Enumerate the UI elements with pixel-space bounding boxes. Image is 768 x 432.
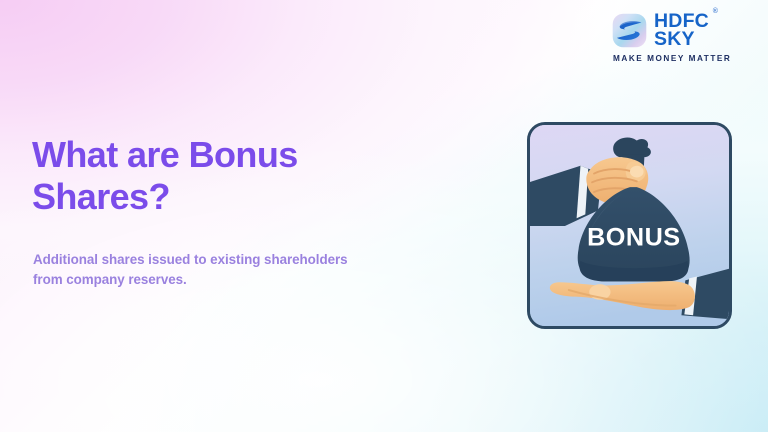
- logo-wordmark: HDFC SKY ®: [654, 12, 709, 48]
- hdfc-sky-swoosh-logo-icon: [612, 13, 647, 48]
- logo-name-line2: SKY: [654, 30, 709, 48]
- registered-trademark-icon: ®: [713, 9, 718, 16]
- brand-tagline: MAKE MONEY MATTER: [613, 54, 731, 63]
- hand-giving-bonus-money-bag-to-open-hand-icon: BONUS: [530, 125, 729, 326]
- logo-row: HDFC SKY ®: [612, 12, 709, 48]
- bag-label: BONUS: [587, 223, 681, 251]
- brand-logo[interactable]: HDFC SKY ® MAKE MONEY MATTER: [612, 12, 744, 63]
- page-title: What are Bonus Shares?: [32, 134, 412, 218]
- slide-canvas: HDFC SKY ® MAKE MONEY MATTER What are Bo…: [0, 0, 768, 432]
- page-subtitle: Additional shares issued to existing sha…: [33, 250, 353, 289]
- illustration-card: BONUS: [527, 122, 732, 329]
